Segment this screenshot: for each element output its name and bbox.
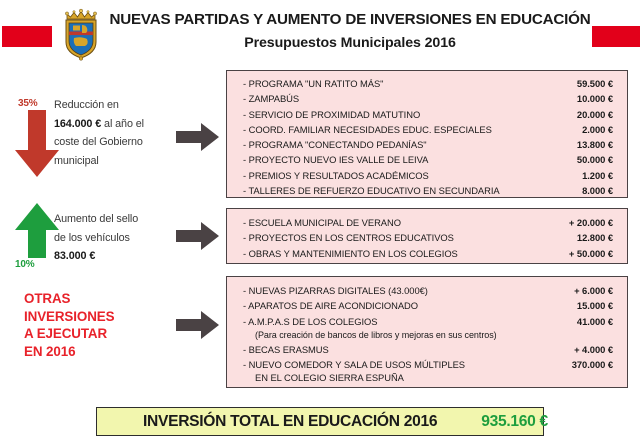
percent-badge-aumento: 10%: [15, 259, 34, 270]
aumento-amount: 83.000 €: [54, 250, 95, 262]
table-row: - PREMIOS Y RESULTADOS ACADÉMICOS 1.200 …: [227, 168, 627, 183]
table-row: - BECAS ERASMUS + 4.000 €: [227, 342, 627, 357]
coat-of-arms-icon: [62, 8, 100, 61]
box-otras-items: - NUEVAS PIZARRAS DIGITALES (43.000€) + …: [226, 276, 628, 388]
item-amount: 20.000 €: [577, 107, 613, 122]
aumento-line-1: Aumento del sello: [54, 210, 179, 229]
item-label: - OBRAS Y MANTENIMIENTO EN LOS COLEGIOS: [243, 246, 458, 261]
item-label: - TALLERES DE REFUERZO EDUCATIVO EN SECU…: [243, 183, 500, 198]
item-label: - NUEVO COMEDOR Y SALA DE USOS MÚLTIPLES: [243, 357, 465, 372]
table-row: - TALLERES DE REFUERZO EDUCATIVO EN SECU…: [227, 183, 627, 198]
item-label: - PROYECTOS EN LOS CENTROS EDUCATIVOS: [243, 230, 454, 245]
reduccion-line-4: municipal: [54, 152, 174, 171]
item-amount: 1.200 €: [582, 168, 613, 183]
box-reduccion-items: - PROGRAMA "UN RATITO MÁS" 59.500 € - ZA…: [226, 70, 628, 198]
description-reduccion: Reducción en 164.000 € al año el coste d…: [54, 96, 174, 170]
table-row: - APARATOS DE AIRE ACONDICIONADO 15.000 …: [227, 298, 627, 313]
item-amount: + 4.000 €: [574, 342, 613, 357]
item-amount: 10.000 €: [577, 91, 613, 106]
item-label: - PROGRAMA "CONECTANDO PEDANÍAS": [243, 137, 427, 152]
box-aumento-items: - ESCUELA MUNICIPAL DE VERANO + 20.000 €…: [226, 208, 628, 264]
reduccion-line-2-rest: al año el: [101, 118, 144, 130]
item-amount: + 20.000 €: [569, 215, 613, 230]
item-amount: + 6.000 €: [574, 283, 613, 298]
table-row: - PROYECTO NUEVO IES VALLE DE LEIVA 50.0…: [227, 152, 627, 167]
aumento-line-2: de los vehículos: [54, 229, 179, 248]
item-label: - ZAMPABÚS: [243, 91, 299, 106]
page-subtitle: Presupuestos Municipales 2016: [106, 33, 594, 53]
table-row: - ZAMPABÚS 10.000 €: [227, 91, 627, 106]
reduccion-line-2: 164.000 € al año el: [54, 115, 174, 134]
item-amount: 15.000 €: [577, 298, 613, 313]
item-continuation: EN EL COLEGIO SIERRA ESPUÑA: [227, 372, 627, 386]
item-amount: 12.800 €: [577, 230, 613, 245]
otras-line-4: EN 2016: [24, 343, 169, 361]
decorative-red-bar-left: [2, 26, 52, 47]
item-amount: 50.000 €: [577, 152, 613, 167]
otras-line-1: OTRAS: [24, 290, 169, 308]
aumento-line-3: 83.000 €: [54, 247, 179, 266]
otras-line-3: A EJECUTAR: [24, 325, 169, 343]
item-amount: + 50.000 €: [569, 246, 613, 261]
right-arrow-icon-2: [176, 221, 220, 256]
item-label: - APARATOS DE AIRE ACONDICIONADO: [243, 298, 418, 313]
right-arrow-icon-3: [176, 310, 220, 345]
table-row: - PROGRAMA "CONECTANDO PEDANÍAS" 13.800 …: [227, 137, 627, 152]
item-amount: 13.800 €: [577, 137, 613, 152]
reduccion-amount: 164.000 €: [54, 118, 101, 130]
item-label: - BECAS ERASMUS: [243, 342, 329, 357]
item-amount: 2.000 €: [582, 122, 613, 137]
total-value: 935.160 €: [481, 413, 548, 431]
infographic-canvas: NUEVAS PARTIDAS Y AUMENTO DE INVERSIONES…: [0, 0, 640, 442]
total-label: INVERSIÓN TOTAL EN EDUCACIÓN 2016: [143, 413, 437, 431]
table-row: - COORD. FAMILIAR NECESIDADES EDUC. ESPE…: [227, 122, 627, 137]
decorative-red-bar-right: [592, 26, 640, 47]
item-subnote: (Para creación de bancos de libros y mej…: [227, 329, 627, 342]
item-label: - SERVICIO DE PROXIMIDAD MATUTINO: [243, 107, 420, 122]
item-label: - A.M.P.A.S DE LOS COLEGIOS: [243, 314, 377, 329]
reduccion-line-1: Reducción en: [54, 96, 174, 115]
right-arrow-icon-1: [176, 122, 220, 157]
item-label: - COORD. FAMILIAR NECESIDADES EDUC. ESPE…: [243, 122, 492, 137]
table-row: - OBRAS Y MANTENIMIENTO EN LOS COLEGIOS …: [227, 246, 627, 261]
percent-badge-reduccion: 35%: [18, 98, 37, 109]
table-row: - NUEVO COMEDOR Y SALA DE USOS MÚLTIPLES…: [227, 357, 627, 372]
total-investment-bar: INVERSIÓN TOTAL EN EDUCACIÓN 2016 935.16…: [96, 407, 544, 436]
table-row: - ESCUELA MUNICIPAL DE VERANO + 20.000 €: [227, 215, 627, 230]
item-label: - PREMIOS Y RESULTADOS ACADÉMICOS: [243, 168, 429, 183]
reduccion-line-3: coste del Gobierno: [54, 133, 174, 152]
table-row: - PROGRAMA "UN RATITO MÁS" 59.500 €: [227, 76, 627, 91]
otras-line-2: INVERSIONES: [24, 308, 169, 326]
table-row: - A.M.P.A.S DE LOS COLEGIOS 41.000 €: [227, 314, 627, 329]
item-label: - ESCUELA MUNICIPAL DE VERANO: [243, 215, 401, 230]
item-amount: 59.500 €: [577, 76, 613, 91]
heading-otras-inversiones: OTRAS INVERSIONES A EJECUTAR EN 2016: [24, 290, 169, 360]
item-label: - NUEVAS PIZARRAS DIGITALES (43.000€): [243, 283, 428, 298]
item-label: - PROGRAMA "UN RATITO MÁS": [243, 76, 383, 91]
table-row: - PROYECTOS EN LOS CENTROS EDUCATIVOS 12…: [227, 230, 627, 245]
table-row: - SERVICIO DE PROXIMIDAD MATUTINO 20.000…: [227, 107, 627, 122]
table-row: - NUEVAS PIZARRAS DIGITALES (43.000€) + …: [227, 283, 627, 298]
page-title: NUEVAS PARTIDAS Y AUMENTO DE INVERSIONES…: [106, 10, 594, 30]
header-titles: NUEVAS PARTIDAS Y AUMENTO DE INVERSIONES…: [106, 10, 594, 53]
description-aumento: Aumento del sello de los vehículos 83.00…: [54, 210, 179, 266]
item-amount: 8.000 €: [582, 183, 613, 198]
item-label: - PROYECTO NUEVO IES VALLE DE LEIVA: [243, 152, 428, 167]
item-amount: 370.000 €: [572, 357, 613, 372]
item-amount: 41.000 €: [577, 314, 613, 329]
